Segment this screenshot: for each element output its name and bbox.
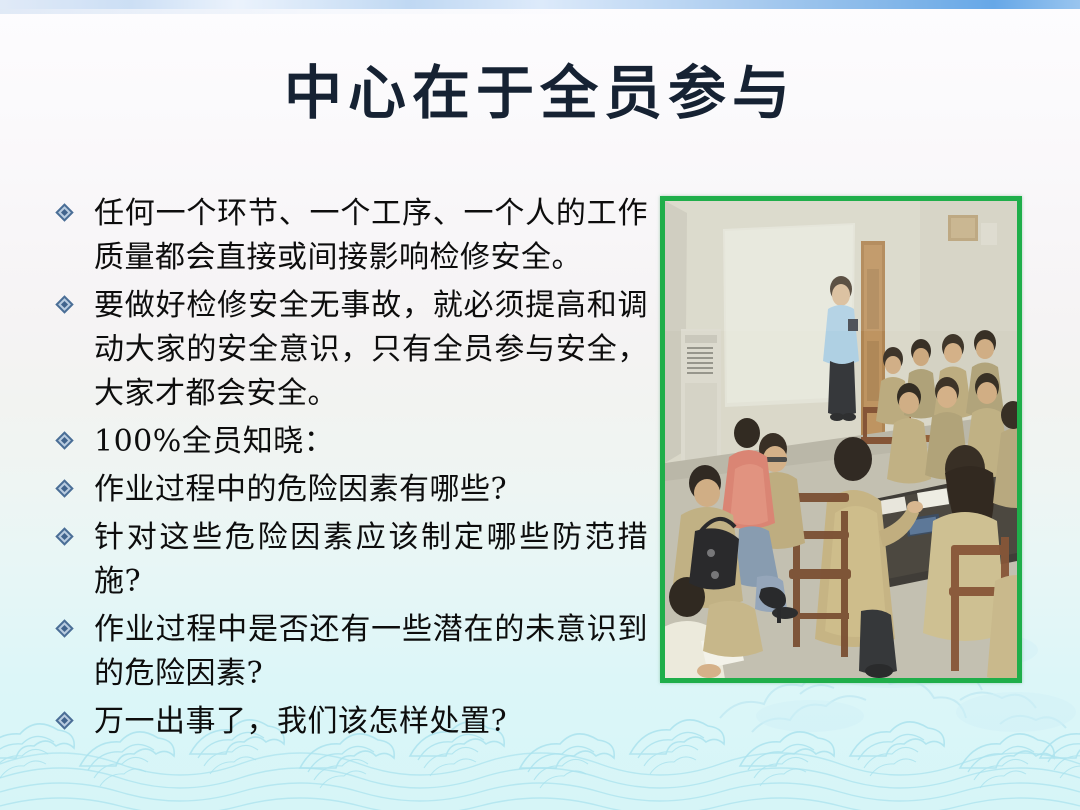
list-item-label: 万一出事了，我们该怎样处置? [94,700,648,744]
list-item-label: 任何一个环节、一个工序、一个人的工作质量都会直接或间接影响检修安全。 [94,192,648,280]
slide-canvas: 中心在于全员参与 任何一个环节、一个工序、一个人的工作质量都会直接或间接影响检修… [0,0,1080,810]
meeting-photo [665,201,1017,678]
diamond-bullet-icon [58,192,94,224]
list-item: 作业过程中是否还有一些潜在的未意识到的危险因素? [58,608,648,696]
top-accent-stripe-secondary [0,9,1080,14]
list-item-label: 要做好检修安全无事故，就必须提高和调动大家的安全意识，只有全员参与安全，大家才都… [94,284,648,416]
list-item: 要做好检修安全无事故，就必须提高和调动大家的安全意识，只有全员参与安全，大家才都… [58,284,648,416]
diamond-bullet-icon [58,468,94,500]
list-item-label: 针对这些危险因素应该制定哪些防范措施? [94,516,648,604]
diamond-bullet-icon [58,700,94,732]
list-item-label: 作业过程中的危险因素有哪些? [94,468,648,512]
diamond-bullet-icon [58,284,94,316]
list-item: 万一出事了，我们该怎样处置? [58,700,648,744]
list-item: 针对这些危险因素应该制定哪些防范措施? [58,516,648,604]
slide-title: 中心在于全员参与 [0,62,1080,126]
list-item: 作业过程中的危险因素有哪些? [58,468,648,512]
meeting-photo-frame [660,196,1022,683]
list-item-label: 100%全员知晓： [94,420,648,464]
diamond-bullet-icon [58,608,94,640]
top-accent-stripe [0,0,1080,9]
diamond-bullet-icon [58,420,94,452]
bullet-list: 任何一个环节、一个工序、一个人的工作质量都会直接或间接影响检修安全。 要做好检修… [58,192,648,748]
list-item-label: 作业过程中是否还有一些潜在的未意识到的危险因素? [94,608,648,696]
diamond-bullet-icon [58,516,94,548]
list-item: 100%全员知晓： [58,420,648,464]
list-item: 任何一个环节、一个工序、一个人的工作质量都会直接或间接影响检修安全。 [58,192,648,280]
